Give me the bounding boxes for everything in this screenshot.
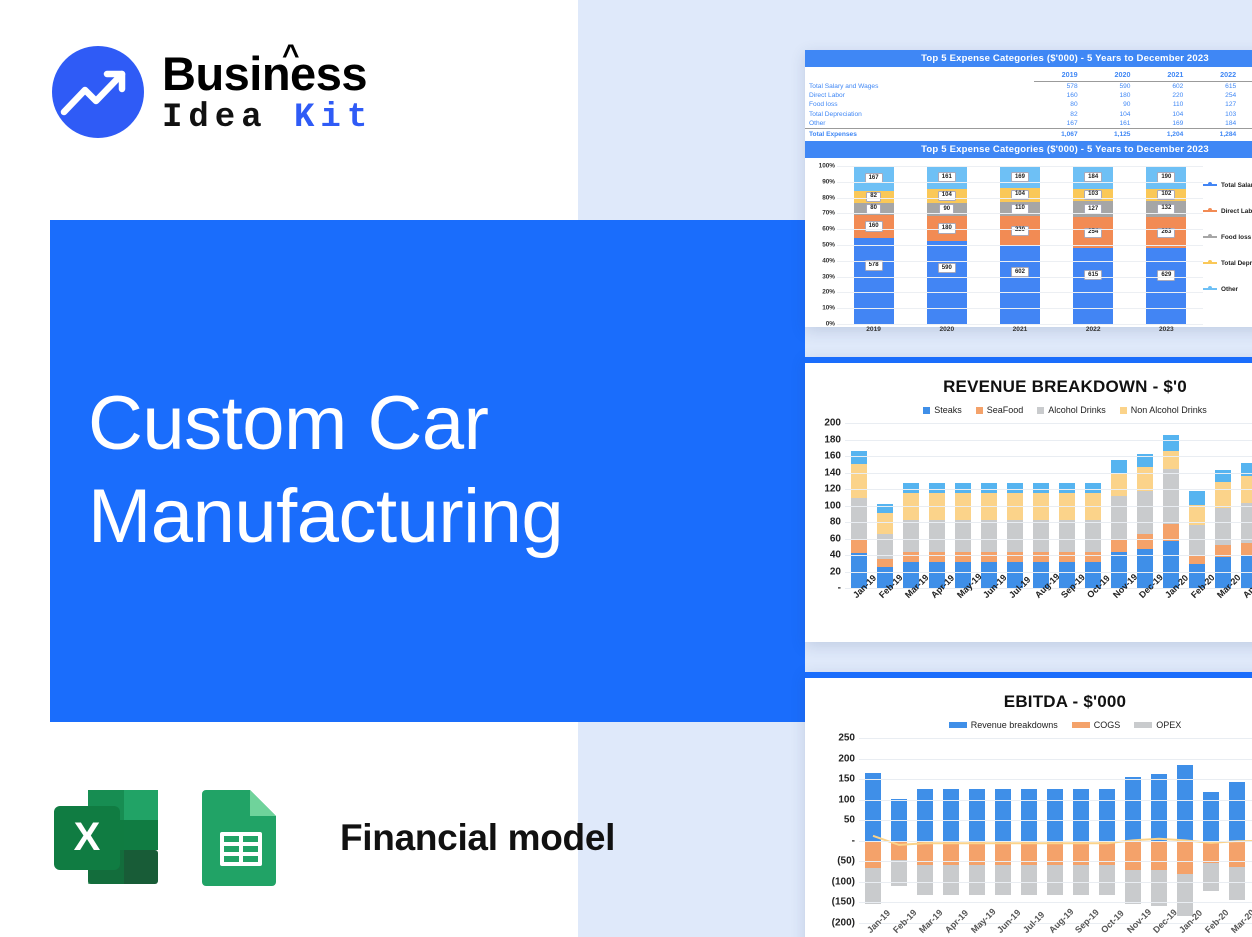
bar-segment: 104 bbox=[927, 189, 967, 204]
y-tick-label: (50) bbox=[837, 856, 855, 867]
bar-segment bbox=[1085, 520, 1101, 552]
expense-stacked-chart: 100%90%80%70%60%50%40%30%20%10%0% 167828… bbox=[805, 158, 1252, 340]
y-tick-label: 160 bbox=[824, 451, 841, 462]
table-cell: 590 bbox=[1087, 82, 1140, 92]
legend-item[interactable]: Other bbox=[1203, 276, 1252, 302]
y-tick-label: 60 bbox=[830, 533, 841, 544]
bar-value-label: 220 bbox=[1011, 226, 1029, 236]
y-axis-ticks: 20018016014012010080604020- bbox=[805, 423, 841, 588]
gridline bbox=[845, 555, 1252, 556]
bar-segment: 160 bbox=[854, 215, 894, 239]
bar-segment bbox=[1241, 543, 1252, 555]
table-cell: 578 bbox=[1034, 82, 1087, 92]
bar-segment bbox=[1007, 552, 1023, 562]
gridline bbox=[845, 489, 1252, 490]
table-col-label bbox=[805, 67, 1034, 82]
bar-segment: 167 bbox=[854, 166, 894, 191]
y-tick-label: 100 bbox=[838, 794, 855, 805]
stacked-bar bbox=[1163, 435, 1179, 588]
y-tick-label: 250 bbox=[838, 733, 855, 744]
y-tick-label: 150 bbox=[838, 774, 855, 785]
table-cell: 220 bbox=[1139, 91, 1192, 100]
ebitda-card: EBITDA - $'000 Revenue breakdownsCOGSOPE… bbox=[805, 672, 1252, 937]
expense-table: 201920202021202220232 Total Salary and W… bbox=[805, 67, 1252, 139]
bar-segment bbox=[1241, 463, 1252, 476]
bar-value-label: 590 bbox=[938, 263, 956, 273]
table-row: Food loss8090110127132 bbox=[805, 100, 1252, 109]
bar-segment bbox=[1033, 552, 1049, 562]
table-cell: 127 bbox=[1192, 100, 1245, 109]
legend-swatch-icon bbox=[1037, 407, 1044, 414]
bar-segment bbox=[1111, 539, 1127, 552]
y-tick-label: 50 bbox=[844, 815, 855, 826]
bar-segment bbox=[1189, 555, 1205, 564]
bar-segment: 184 bbox=[1073, 166, 1113, 189]
y-tick-label: 30% bbox=[822, 273, 835, 280]
google-sheets-icon bbox=[184, 788, 292, 888]
y-tick-label: (200) bbox=[832, 918, 855, 929]
trending-up-circle-icon bbox=[52, 46, 144, 138]
gridline bbox=[837, 292, 1203, 293]
y-tick-label: 180 bbox=[824, 434, 841, 445]
legend-item[interactable]: Total Depreciation bbox=[1203, 250, 1252, 276]
bar-segment bbox=[1189, 491, 1205, 505]
gridline bbox=[845, 456, 1252, 457]
gridline bbox=[837, 308, 1203, 309]
legend-label: Direct Labor bbox=[1221, 208, 1252, 215]
table-total-row: Total Expenses1,0671,1251,2041,2841,316 bbox=[805, 128, 1252, 139]
table-row-label: Other bbox=[805, 119, 1034, 129]
y-tick-label: (150) bbox=[832, 897, 855, 908]
bar-segment: 254 bbox=[1073, 217, 1113, 248]
brand-name-text: Business bbox=[162, 47, 367, 100]
bar-segment bbox=[903, 520, 919, 552]
bar-segment bbox=[1085, 552, 1101, 562]
table-col-header: 2020 bbox=[1087, 67, 1140, 82]
bar-segment bbox=[1033, 520, 1049, 552]
y-tick-label: 20 bbox=[830, 566, 841, 577]
gridline bbox=[859, 841, 1252, 842]
legend-swatch-icon bbox=[1134, 722, 1152, 728]
y-tick-label: 90% bbox=[822, 178, 835, 185]
x-tick-label: 2019 bbox=[854, 326, 894, 333]
y-tick-label: 80% bbox=[822, 194, 835, 201]
bar-segment bbox=[981, 520, 997, 552]
table-body: Total Salary and Wages578590602615629Dir… bbox=[805, 82, 1252, 140]
expense-categories-card: Top 5 Expense Categories ($'000) - 5 Yea… bbox=[805, 50, 1252, 327]
legend-label: Revenue breakdowns bbox=[971, 720, 1058, 730]
brand-name-primary: Business ^ bbox=[162, 50, 373, 97]
legend-label: OPEX bbox=[1156, 720, 1181, 730]
plot-area bbox=[859, 738, 1252, 923]
bar-segment: 629 bbox=[1146, 248, 1186, 324]
gridline bbox=[837, 166, 1203, 167]
gridline bbox=[837, 213, 1203, 214]
bar-segment bbox=[851, 451, 867, 464]
ebitda-chart-body: 25020015010050-(50)(100)(150)(200) Jan-1… bbox=[805, 732, 1252, 937]
brand-kit-text: Kit bbox=[294, 99, 373, 137]
legend-marker-icon bbox=[1203, 236, 1217, 238]
y-axis-ticks: 25020015010050-(50)(100)(150)(200) bbox=[805, 738, 855, 923]
table-cell: 102 bbox=[1245, 110, 1252, 119]
stacked-bar bbox=[1137, 454, 1153, 588]
bar-segment: 161 bbox=[927, 166, 967, 189]
stacked-bar bbox=[1215, 470, 1231, 588]
circumflex-accent-icon: ^ bbox=[282, 41, 299, 71]
brand-idea-text: Idea bbox=[162, 99, 268, 137]
gridline bbox=[845, 440, 1252, 441]
x-tick-label: 2020 bbox=[927, 326, 967, 333]
stacked-bar bbox=[1111, 460, 1127, 588]
gridline bbox=[837, 324, 1203, 325]
gridline bbox=[859, 861, 1252, 862]
bar-segment bbox=[877, 559, 893, 567]
legend-item[interactable]: Non Alcohol Drinks bbox=[1120, 405, 1207, 415]
y-tick-label: 60% bbox=[822, 226, 835, 233]
legend-label: Total Salary and Wages bbox=[1221, 182, 1252, 189]
legend-item[interactable]: OPEX bbox=[1134, 720, 1181, 730]
bar-value-label: 104 bbox=[938, 191, 956, 201]
legend-swatch-icon bbox=[976, 407, 983, 414]
bar-segment bbox=[1163, 451, 1179, 469]
bar-segment bbox=[1137, 467, 1153, 491]
x-tick-label: 2022 bbox=[1073, 326, 1113, 333]
bar-value-label: 615 bbox=[1084, 270, 1102, 280]
table-row: Direct Labor160180220254263 bbox=[805, 91, 1252, 100]
table-row: Total Depreciation82104104103102 bbox=[805, 110, 1252, 119]
bar-value-label: 629 bbox=[1157, 270, 1175, 280]
bar-value-label: 169 bbox=[1011, 172, 1029, 182]
x-tick-label: 2023 bbox=[1146, 326, 1186, 333]
bar-value-label: 80 bbox=[866, 204, 881, 214]
table-cell: 161 bbox=[1087, 119, 1140, 129]
bar-segment bbox=[877, 513, 893, 534]
table-cell: 1,067 bbox=[1034, 128, 1087, 139]
table-cell: 167 bbox=[1034, 119, 1087, 129]
table-row: Other167161169184190 bbox=[805, 119, 1252, 129]
slide-canvas: Custom Car Manufacturing Business ^ Idea… bbox=[0, 0, 1252, 937]
gridline bbox=[837, 182, 1203, 183]
legend-label: COGS bbox=[1094, 720, 1121, 730]
bar-segment bbox=[1163, 435, 1179, 451]
legend-item[interactable]: Revenue breakdowns bbox=[949, 720, 1058, 730]
ebitda-chart-title: EBITDA - $'000 bbox=[805, 678, 1252, 712]
table-cell: 1,125 bbox=[1087, 128, 1140, 139]
table-cell: 104 bbox=[1139, 110, 1192, 119]
table-cell: 254 bbox=[1192, 91, 1245, 100]
table-cell: 82 bbox=[1034, 110, 1087, 119]
bar-segment bbox=[1137, 534, 1153, 549]
y-tick-label: 80 bbox=[830, 517, 841, 528]
y-tick-label: 40 bbox=[830, 550, 841, 561]
y-tick-label: 200 bbox=[824, 418, 841, 429]
legend-item[interactable]: SeaFood bbox=[976, 405, 1024, 415]
legend-marker-icon bbox=[1203, 288, 1217, 290]
stacked-bar bbox=[1241, 463, 1252, 588]
y-tick-label: 100 bbox=[824, 500, 841, 511]
page-title: Custom Car Manufacturing bbox=[88, 378, 788, 563]
table-row-label: Direct Labor bbox=[805, 91, 1034, 100]
bar-segment bbox=[1111, 473, 1127, 495]
table-cell: 629 bbox=[1245, 82, 1252, 92]
legend-swatch-icon bbox=[923, 407, 930, 414]
gridline bbox=[859, 902, 1252, 903]
expense-chart-title: Top 5 Expense Categories ($'000) - 5 Yea… bbox=[805, 141, 1252, 158]
bar-segment: 615 bbox=[1073, 248, 1113, 324]
bar-value-label: 578 bbox=[865, 260, 883, 270]
gridline bbox=[837, 277, 1203, 278]
y-tick-label: 120 bbox=[824, 484, 841, 495]
y-tick-label: 10% bbox=[822, 305, 835, 312]
plot-area bbox=[845, 423, 1252, 588]
legend-label: Alcohol Drinks bbox=[1048, 405, 1106, 415]
x-axis-labels: Jan-19Feb-19Mar-19Apr-19May-19Jun-19Jul-… bbox=[851, 593, 1252, 603]
table-cell: 1,204 bbox=[1139, 128, 1192, 139]
table-cell: 263 bbox=[1245, 91, 1252, 100]
bar-segment bbox=[851, 540, 867, 553]
legend-swatch-icon bbox=[949, 722, 967, 728]
revenue-breakdown-card: REVENUE BREAKDOWN - $'0 SteaksSeaFoodAlc… bbox=[805, 357, 1252, 642]
bar-segment bbox=[955, 520, 971, 552]
bar-segment: 263 bbox=[1146, 217, 1186, 249]
y-tick-label: 50% bbox=[822, 242, 835, 249]
bar-segment bbox=[955, 552, 971, 562]
gridline bbox=[845, 522, 1252, 523]
y-tick-label: 0% bbox=[826, 321, 835, 328]
bar-segment bbox=[981, 552, 997, 562]
bar-segment: 220 bbox=[1000, 216, 1040, 245]
legend-marker-icon bbox=[1203, 184, 1217, 186]
table-cell: 90 bbox=[1087, 100, 1140, 109]
gridline bbox=[859, 759, 1252, 760]
gridline bbox=[837, 198, 1203, 199]
table-col-header: 2022 bbox=[1192, 67, 1245, 82]
y-tick-label: 100% bbox=[819, 163, 835, 170]
plot-area: 1678280160578161104901805901691041102206… bbox=[837, 166, 1203, 324]
legend-label: Steaks bbox=[934, 405, 962, 415]
bar-segment: 102 bbox=[1146, 189, 1186, 201]
table-cell: 169 bbox=[1139, 119, 1192, 129]
microsoft-excel-icon: X bbox=[52, 788, 160, 888]
bar-segment bbox=[1215, 482, 1231, 508]
y-tick-label: - bbox=[838, 583, 841, 594]
legend-label: Total Depreciation bbox=[1221, 260, 1252, 267]
bar-segment bbox=[1189, 525, 1205, 555]
gridline bbox=[845, 572, 1252, 573]
legend-label: SeaFood bbox=[987, 405, 1024, 415]
x-axis-labels: Jan-19Feb-19Mar-19Apr-19May-19Jun-19Jul-… bbox=[865, 928, 1252, 937]
bar-segment bbox=[903, 552, 919, 562]
chart-legend: Total Salary and WagesDirect LaborFood l… bbox=[1203, 172, 1252, 302]
bar-segment bbox=[1059, 520, 1075, 552]
legend-swatch-icon bbox=[1072, 722, 1090, 728]
table-header-row: 201920202021202220232 bbox=[805, 67, 1252, 82]
svg-text:X: X bbox=[74, 815, 101, 859]
bar-segment: 590 bbox=[927, 241, 967, 324]
bar-segment bbox=[1059, 552, 1075, 562]
table-row: Total Salary and Wages578590602615629 bbox=[805, 82, 1252, 92]
table-cell: 615 bbox=[1192, 82, 1245, 92]
gridline bbox=[859, 738, 1252, 739]
bar-segment bbox=[851, 464, 867, 498]
table-cell: 1,316 bbox=[1245, 128, 1252, 139]
bar-segment bbox=[1007, 520, 1023, 552]
table-row-label: Total Expenses bbox=[805, 128, 1034, 139]
y-tick-label: 20% bbox=[822, 289, 835, 296]
legend-label: Food loss bbox=[1221, 234, 1251, 241]
table-cell: 184 bbox=[1192, 119, 1245, 129]
bar-segment: 602 bbox=[1000, 245, 1040, 324]
table-cell: 110 bbox=[1139, 100, 1192, 109]
bar-segment bbox=[1137, 491, 1153, 535]
legend-item[interactable]: Alcohol Drinks bbox=[1037, 405, 1106, 415]
x-axis-labels: 20192020202120222023 bbox=[837, 326, 1203, 333]
legend-item[interactable]: Total Salary and Wages bbox=[1203, 172, 1252, 198]
table-cell: 80 bbox=[1034, 100, 1087, 109]
chart-legend: Revenue breakdownsCOGSOPEX bbox=[805, 712, 1252, 730]
gridline bbox=[837, 245, 1203, 246]
chart-legend: SteaksSeaFoodAlcohol DrinksNon Alcohol D… bbox=[805, 397, 1252, 415]
bar-segment bbox=[1111, 460, 1127, 473]
gridline bbox=[845, 539, 1252, 540]
legend-marker-icon bbox=[1203, 210, 1217, 212]
y-tick-label: - bbox=[852, 835, 855, 846]
bar-segment bbox=[1215, 508, 1231, 545]
bar-segment: 169 bbox=[1000, 166, 1040, 188]
legend-item[interactable]: Direct Labor bbox=[1203, 198, 1252, 224]
table-cell: 190 bbox=[1245, 119, 1252, 129]
table-col-header: 2019 bbox=[1034, 67, 1087, 82]
ebitda-line-series bbox=[859, 738, 1252, 923]
y-tick-label: 40% bbox=[822, 257, 835, 264]
table-cell: 103 bbox=[1192, 110, 1245, 119]
gridline bbox=[859, 820, 1252, 821]
bar-segment bbox=[1163, 469, 1179, 523]
table-cell: 1,284 bbox=[1192, 128, 1245, 139]
table-row-label: Food loss bbox=[805, 100, 1034, 109]
expense-table-title: Top 5 Expense Categories ($'000) - 5 Yea… bbox=[805, 50, 1252, 67]
brand-name-secondary: Idea Kit bbox=[162, 101, 373, 135]
gridline bbox=[845, 506, 1252, 507]
gridline bbox=[859, 800, 1252, 801]
bar-segment: 103 bbox=[1073, 189, 1113, 202]
format-badges: X Financial model bbox=[52, 788, 615, 888]
table-cell: 602 bbox=[1139, 82, 1192, 92]
bar-segment bbox=[851, 498, 867, 540]
legend-label: Non Alcohol Drinks bbox=[1131, 405, 1207, 415]
y-tick-label: 200 bbox=[838, 753, 855, 764]
legend-swatch-icon bbox=[1120, 407, 1127, 414]
gridline bbox=[859, 779, 1252, 780]
bar-segment: 190 bbox=[1146, 166, 1186, 189]
legend-item[interactable]: Food loss bbox=[1203, 224, 1252, 250]
gridline bbox=[859, 882, 1252, 883]
bar-segment: 578 bbox=[854, 238, 894, 324]
stacked-bar bbox=[877, 504, 893, 588]
y-tick-label: (100) bbox=[832, 876, 855, 887]
gridline bbox=[845, 473, 1252, 474]
revenue-chart-body: 20018016014012010080604020- Jan-19Feb-19… bbox=[805, 417, 1252, 617]
y-tick-label: 70% bbox=[822, 210, 835, 217]
table-col-header: 2021 bbox=[1139, 67, 1192, 82]
legend-label: Other bbox=[1221, 286, 1238, 293]
legend-marker-icon bbox=[1203, 262, 1217, 264]
legend-item[interactable]: COGS bbox=[1072, 720, 1121, 730]
table-cell: 132 bbox=[1245, 100, 1252, 109]
brand-logo: Business ^ Idea Kit bbox=[52, 46, 373, 138]
gridline bbox=[845, 423, 1252, 424]
bar-segment bbox=[929, 520, 945, 552]
table-cell: 104 bbox=[1087, 110, 1140, 119]
format-label: Financial model bbox=[340, 817, 615, 859]
table-row-label: Total Depreciation bbox=[805, 110, 1034, 119]
table-col-header: 2023 bbox=[1245, 67, 1252, 82]
y-tick-label: 140 bbox=[824, 467, 841, 478]
revenue-chart-title: REVENUE BREAKDOWN - $'0 bbox=[805, 363, 1252, 397]
bar-segment bbox=[1111, 496, 1127, 539]
x-tick-label: 2021 bbox=[1000, 326, 1040, 333]
table-cell: 180 bbox=[1087, 91, 1140, 100]
y-axis-ticks: 100%90%80%70%60%50%40%30%20%10%0% bbox=[809, 166, 835, 324]
table-cell: 160 bbox=[1034, 91, 1087, 100]
gridline bbox=[837, 229, 1203, 230]
bar-segment: 132 bbox=[1146, 201, 1186, 217]
table-row-label: Total Salary and Wages bbox=[805, 82, 1034, 92]
bar-segment: 127 bbox=[1073, 201, 1113, 217]
legend-item[interactable]: Steaks bbox=[923, 405, 962, 415]
gridline bbox=[837, 261, 1203, 262]
bar-segment bbox=[929, 552, 945, 562]
bar-segment: 104 bbox=[1000, 188, 1040, 202]
